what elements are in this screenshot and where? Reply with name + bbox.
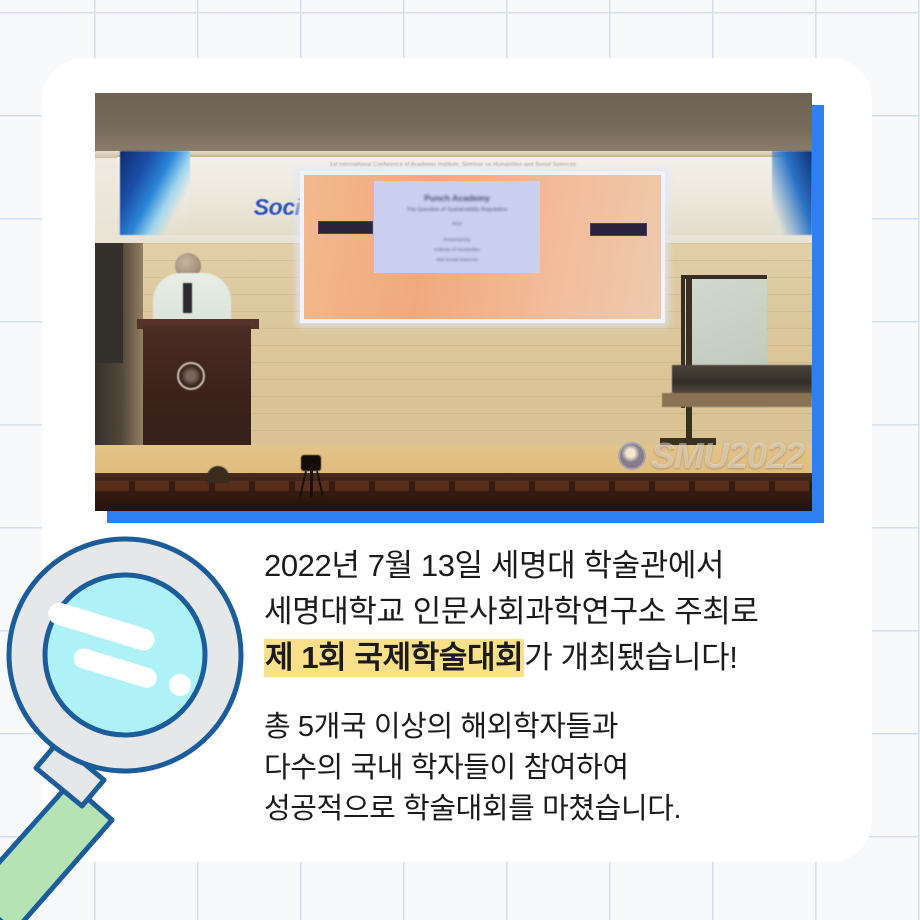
paragraph-secondary: 총 5개국 이상의 해외학자들과 다수의 국내 학자들이 참여하여 성공적으로 …: [264, 707, 864, 830]
paragraph-primary-highlight: 제 1회 국제학술대회: [264, 639, 524, 677]
circular-seal-icon: [618, 442, 646, 470]
paragraph-primary-prefix: 2022년 7월 13일 세명대 학술관에서 세명대학교 인문사회과학연구소 주…: [264, 548, 758, 629]
photo-container: 1st International Conference of Academic…: [95, 93, 812, 511]
screen-dark-bar-left: [318, 221, 373, 234]
magnifier-handle: [0, 783, 112, 920]
slide-title: Punch Academy: [374, 193, 540, 203]
photo-watermark: SMU2022: [618, 435, 804, 477]
banner-right-blue-graphic: [772, 151, 812, 235]
photo-projection-screen: Punch Academy The Question of Sustainabi…: [300, 171, 665, 323]
photo-whiteboard-leg: [686, 279, 692, 443]
conference-hall-photo: 1st International Conference of Academic…: [95, 93, 812, 511]
magnifying-glass-icon: [0, 528, 262, 920]
photo-speaker-tie: [183, 283, 192, 313]
caption-text-area: 2022년 7월 13일 세명대 학술관에서 세명대학교 인문사회과학연구소 주…: [264, 543, 864, 830]
watermark-text: SMU2022: [651, 435, 804, 477]
photo-tripod-pole: [310, 465, 313, 497]
screen-dark-bar-right: [590, 223, 647, 236]
slide-line-4: and Social Sciences: [374, 257, 540, 262]
slide-line-3: Institute of Humanities: [374, 247, 540, 252]
slide-line-1: 2022: [374, 221, 540, 226]
photo-podium: [143, 326, 251, 448]
slide-line-2: Presented by: [374, 237, 540, 242]
banner-subtitle-small: 1st International Conference of Academic…: [117, 162, 789, 168]
photo-ceiling: [95, 93, 812, 151]
magnifier-lens: [45, 575, 205, 735]
photo-audience-area: [95, 473, 812, 511]
photo-left-dark-band: [95, 243, 123, 363]
podium-emblem-icon: [177, 362, 205, 390]
slide-subtitle: The Question of Sustainability Regulatio…: [374, 207, 540, 213]
banner-left-blue-graphic: [120, 151, 190, 235]
screen-slide-panel: Punch Academy The Question of Sustainabi…: [374, 181, 540, 273]
photo-audience-head: [207, 466, 229, 483]
paragraph-primary: 2022년 7월 13일 세명대 학술관에서 세명대학교 인문사회과학연구소 주…: [264, 543, 864, 681]
paragraph-primary-suffix: 가 개최됐습니다!: [524, 640, 737, 675]
screen-surface: Punch Academy The Question of Sustainabi…: [304, 175, 661, 319]
photo-seat-row: [95, 481, 812, 491]
photo-side-table-base: [662, 393, 812, 407]
